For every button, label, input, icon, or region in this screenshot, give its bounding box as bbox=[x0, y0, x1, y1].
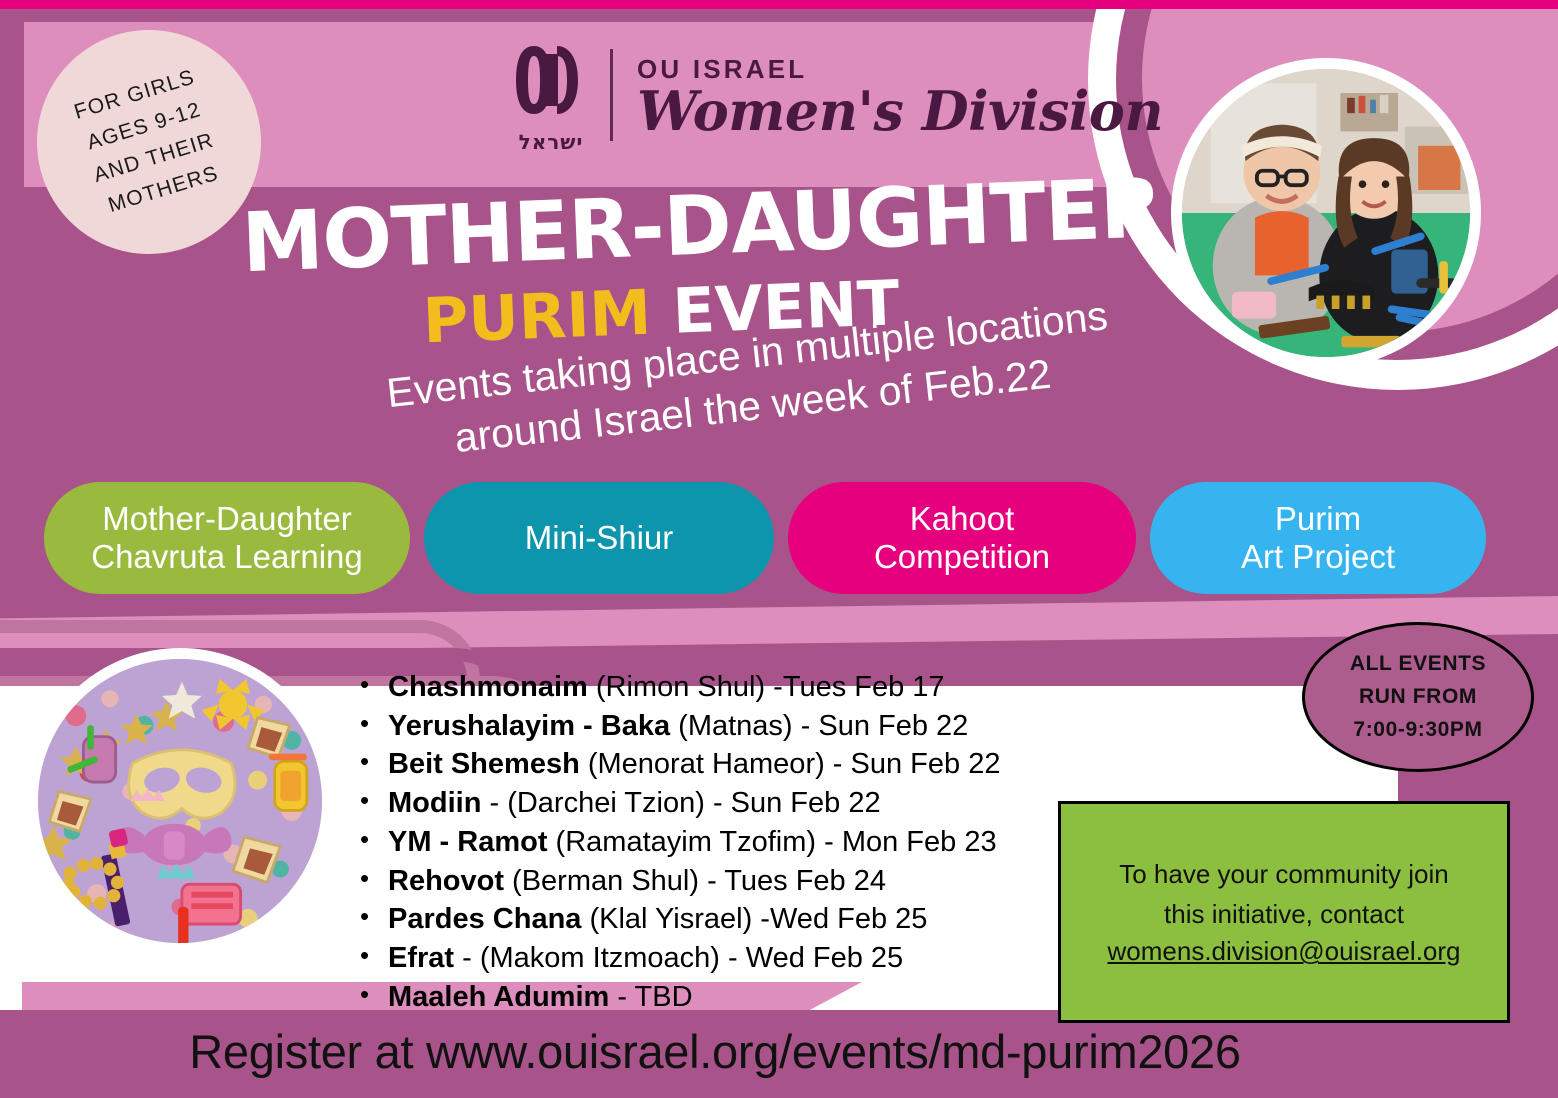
list-item: YM - Ramot (Ramatayim Tzofim) - Mon Feb … bbox=[356, 823, 1076, 862]
top-accent-strip bbox=[0, 0, 1558, 9]
logo-division-name: Women's Division bbox=[637, 87, 1163, 137]
contact-line-2: this initiative, contact bbox=[1164, 897, 1404, 933]
location-list: Chashmonaim (Rimon Shul) -Tues Feb 17 Ye… bbox=[356, 668, 1076, 1016]
location-details: (Matnas) - Sun Feb 22 bbox=[670, 710, 968, 742]
activity-pill-row: Mother-DaughterChavruta Learning Mini-Sh… bbox=[44, 482, 1514, 594]
list-item: Modiin - (Darchei Tzion) - Sun Feb 22 bbox=[356, 784, 1076, 823]
location-details: - (Darchei Tzion) - Sun Feb 22 bbox=[481, 787, 880, 819]
activity-pill-label: KahootCompetition bbox=[874, 500, 1050, 576]
location-city: Maaleh Adumim bbox=[388, 981, 609, 1013]
mother-daughter-photo bbox=[1171, 58, 1481, 368]
list-item: Pardes Chana (Klal Yisrael) -Wed Feb 25 bbox=[356, 900, 1076, 939]
contact-email-link[interactable]: womens.division@ouisrael.org bbox=[1108, 936, 1461, 967]
location-city: Chashmonaim bbox=[388, 671, 588, 703]
activity-pill-label: Mini-Shiur bbox=[525, 519, 674, 557]
contact-line-1: To have your community join bbox=[1119, 857, 1448, 893]
purim-event-flyer: FOR GIRLS AGES 9-12 AND THEIR MOTHERS יש… bbox=[0, 0, 1558, 1098]
location-city: YM - Ramot bbox=[388, 826, 548, 858]
activity-pill-label: Mother-DaughterChavruta Learning bbox=[91, 500, 363, 576]
location-city: Rehovot bbox=[388, 865, 504, 897]
contact-info-box: To have your community join this initiat… bbox=[1058, 801, 1510, 1023]
register-url-text[interactable]: Register at www.ouisrael.org/events/md-p… bbox=[0, 1024, 1430, 1079]
location-city: Modiin bbox=[388, 787, 481, 819]
logo-divider bbox=[610, 49, 613, 141]
location-details: (Menorat Hameor) - Sun Feb 22 bbox=[580, 748, 1001, 780]
activity-pill-mini-shiur[interactable]: Mini-Shiur bbox=[424, 482, 774, 594]
purim-items-photo bbox=[27, 648, 333, 954]
event-times-line-2: RUN FROM bbox=[1359, 685, 1477, 709]
location-city: Beit Shemesh bbox=[388, 748, 580, 780]
list-item: Chashmonaim (Rimon Shul) -Tues Feb 17 bbox=[356, 668, 1076, 707]
list-item: Yerushalayim - Baka (Matnas) - Sun Feb 2… bbox=[356, 707, 1076, 746]
activity-pill-label: PurimArt Project bbox=[1241, 500, 1395, 576]
location-details: (Klal Yisrael) -Wed Feb 25 bbox=[581, 903, 927, 935]
list-item: Maaleh Adumim - TBD bbox=[356, 978, 1076, 1017]
list-item: Rehovot (Berman Shul) - Tues Feb 24 bbox=[356, 862, 1076, 901]
location-details: (Ramatayim Tzofim) - Mon Feb 23 bbox=[548, 826, 997, 858]
ou-logo-icon: ישראל bbox=[512, 40, 590, 150]
ou-israel-womens-division-logo: ישראל OU ISRAEL Women's Division bbox=[512, 40, 1163, 150]
activity-pill-art-project[interactable]: PurimArt Project bbox=[1150, 482, 1486, 594]
event-times-line-1: ALL EVENTS bbox=[1350, 652, 1486, 676]
logo-hebrew-text: ישראל bbox=[512, 130, 590, 154]
location-details: (Rimon Shul) -Tues Feb 17 bbox=[588, 671, 945, 703]
location-city: Yerushalayim - Baka bbox=[388, 710, 670, 742]
location-details: (Berman Shul) - Tues Feb 24 bbox=[504, 865, 886, 897]
list-item: Efrat - (Makom Itzmoach) - Wed Feb 25 bbox=[356, 939, 1076, 978]
event-times-badge: ALL EVENTS RUN FROM 7:00-9:30PM bbox=[1302, 622, 1534, 772]
event-times-line-3: 7:00-9:30PM bbox=[1353, 718, 1482, 742]
location-details: - TBD bbox=[609, 981, 692, 1013]
location-city: Pardes Chana bbox=[388, 903, 581, 935]
list-item: Beit Shemesh (Menorat Hameor) - Sun Feb … bbox=[356, 745, 1076, 784]
location-city: Efrat bbox=[388, 942, 454, 974]
location-details: - (Makom Itzmoach) - Wed Feb 25 bbox=[454, 942, 903, 974]
activity-pill-kahoot[interactable]: KahootCompetition bbox=[788, 482, 1136, 594]
activity-pill-chavruta[interactable]: Mother-DaughterChavruta Learning bbox=[44, 482, 410, 594]
